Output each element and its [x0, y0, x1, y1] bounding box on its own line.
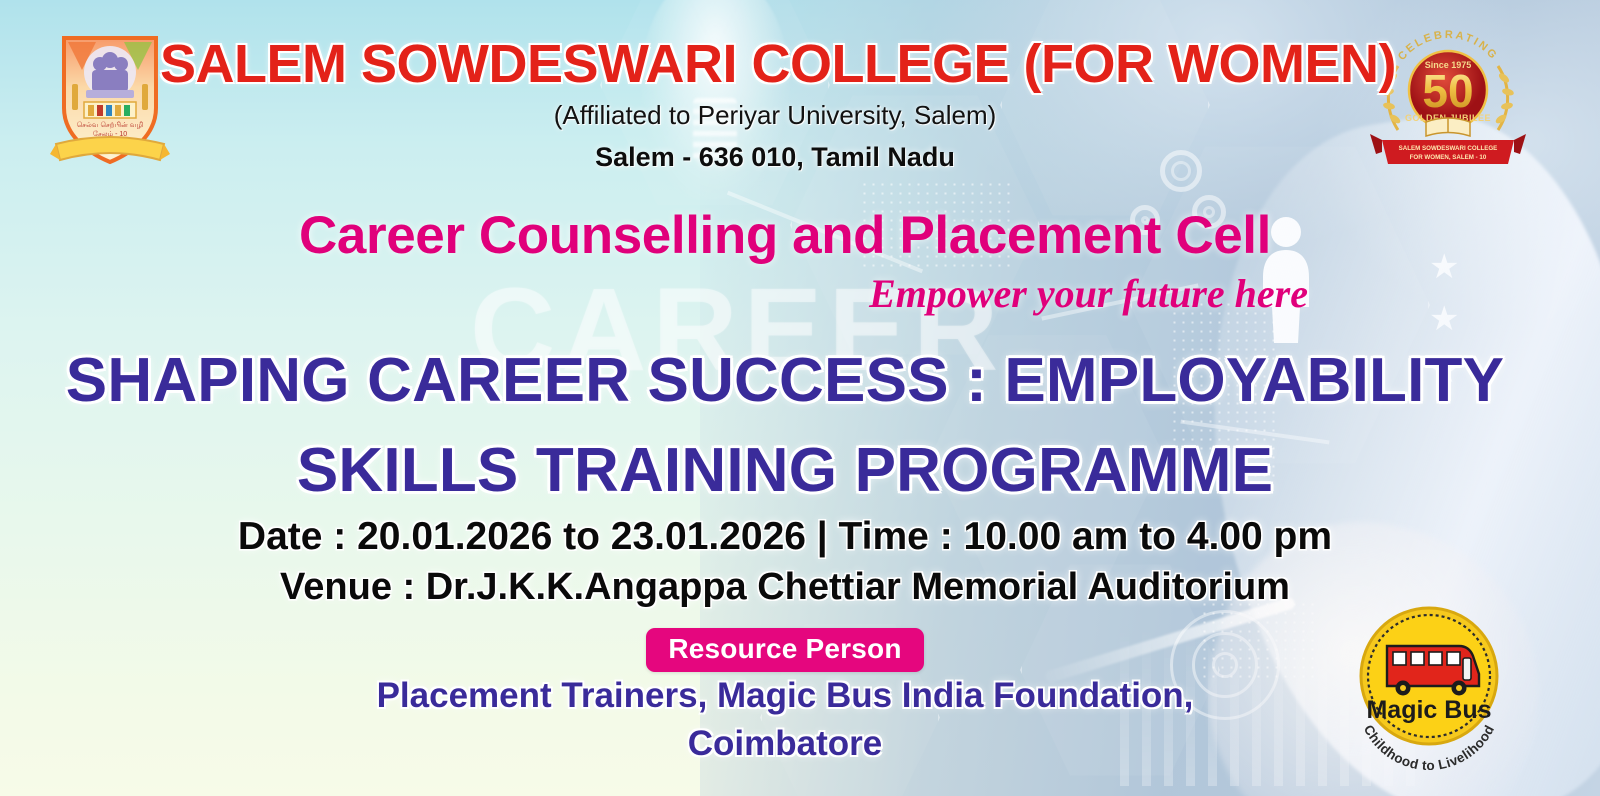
event-banner: ★ ★ ★ CAREER: [0, 0, 1600, 796]
resource-person-section: Resource Person: [0, 628, 1570, 672]
magicbus-brand: Magic Bus: [1366, 696, 1491, 724]
event-title-line2: SKILLS TRAINING PROGRAMME: [0, 426, 1570, 516]
jubilee-number: 50: [1422, 65, 1473, 117]
crest-motto-line1: செல்வ செற்பின் வழி: [77, 121, 144, 129]
address-text: Salem - 636 010, Tamil Nadu: [160, 142, 1390, 173]
college-name: SALEM SOWDESWARI COLLEGE (FOR WOMEN): [160, 33, 1390, 95]
cell-name: Career Counselling and Placement Cell: [0, 205, 1570, 266]
affiliation-text: (Affiliated to Periyar University, Salem…: [160, 100, 1390, 131]
jubilee-ribbon-line2: FOR WOMEN, SALEM - 10: [1410, 154, 1487, 161]
college-crest-logo: செல்வ செற்பின் வழி சேலம் - 10: [46, 26, 174, 174]
resource-person-line2: Coimbatore: [0, 720, 1570, 768]
resource-person-line1: Placement Trainers, Magic Bus India Foun…: [0, 672, 1570, 720]
event-title: SHAPING CAREER SUCCESS : EMPLOYABILITY S…: [0, 336, 1570, 516]
event-title-line1: SHAPING CAREER SUCCESS : EMPLOYABILITY: [0, 336, 1570, 426]
event-datetime: Date : 20.01.2026 to 23.01.2026 | Time :…: [0, 515, 1570, 559]
magic-bus-logo: Magic Bus Childhood to Livelihood: [1343, 600, 1515, 770]
cell-tagline: Empower your future here: [0, 270, 1308, 317]
event-venue: Venue : Dr.J.K.K.Angappa Chettiar Memori…: [0, 566, 1570, 609]
resource-person-badge: Resource Person: [646, 628, 923, 672]
jubilee-ribbon-line1: SALEM SOWDESWARI COLLEGE: [1399, 145, 1498, 152]
resource-person-name: Placement Trainers, Magic Bus India Foun…: [0, 672, 1570, 769]
